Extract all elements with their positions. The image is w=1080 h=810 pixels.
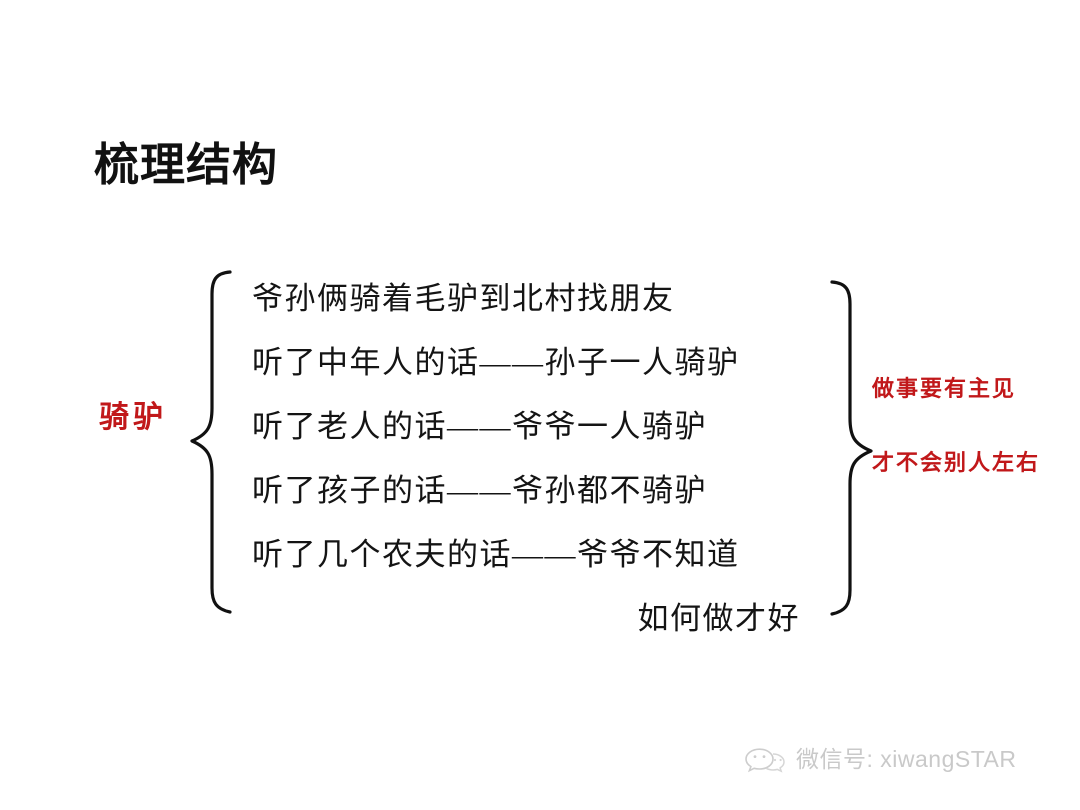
diagram-left-label: 骑驴: [99, 398, 167, 438]
story-line-4: 听了孩子的话——爷孙都不骑驴: [252, 474, 812, 508]
watermark-text: 微信号: xiwangSTAR: [796, 744, 1017, 774]
wechat-icon: [744, 744, 786, 774]
story-line-5: 听了几个农夫的话——爷爷不知道: [252, 538, 812, 572]
conclusion-line-2: 才不会别人左右: [872, 448, 1072, 478]
story-line-list: 爷孙俩骑着毛驴到北村找朋友 听了中年人的话——孙子一人骑驴 听了老人的话——爷爷…: [252, 282, 812, 636]
right-brace-icon: [826, 278, 878, 618]
conclusion-block: 做事要有主见 才不会别人左右: [872, 374, 1072, 478]
story-line-6-continuation: 如何做才好: [252, 602, 812, 636]
conclusion-line-1: 做事要有主见: [872, 374, 1072, 404]
story-line-3: 听了老人的话——爷爷一人骑驴: [252, 410, 812, 444]
left-brace-icon: [186, 268, 234, 618]
story-line-2: 听了中年人的话——孙子一人骑驴: [252, 346, 812, 380]
story-line-1: 爷孙俩骑着毛驴到北村找朋友: [252, 282, 812, 316]
page-title: 梳理结构: [94, 139, 278, 191]
watermark: 微信号: xiwangSTAR: [744, 744, 1017, 774]
slide-canvas: 梳理结构 骑驴 爷孙俩骑着毛驴到北村找朋友 听了中年人的话——孙子一人骑驴 听了…: [0, 0, 1080, 810]
